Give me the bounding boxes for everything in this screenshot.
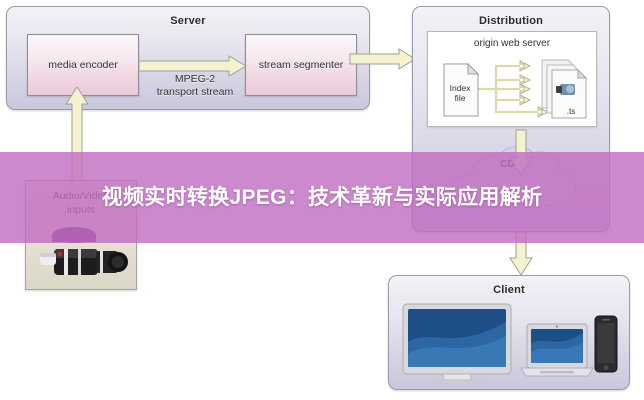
server-title: Server <box>7 15 369 27</box>
arrow-encoder-to-segmenter-icon <box>139 56 247 76</box>
arrow-segmenter-to-distribution-icon <box>350 49 416 69</box>
mpeg-transport-stream-label: MPEG-2 transport stream <box>145 73 245 99</box>
origin-web-server-art: .ts Index file <box>434 54 592 124</box>
origin-web-server-label: origin web server <box>428 38 596 49</box>
diagram-canvas: Server media encoder stream segmenter MP… <box>0 0 644 400</box>
distribution-title: Distribution <box>413 15 609 27</box>
index-file-label-line1: Index <box>450 83 472 93</box>
index-file-label-line2: file <box>455 93 466 103</box>
media-encoder-label: media encoder <box>28 59 138 71</box>
laptop-icon <box>521 324 593 376</box>
ts-segment-label: .ts <box>567 107 575 116</box>
client-group: Client <box>388 275 630 390</box>
client-devices-art <box>401 302 619 384</box>
client-title: Client <box>389 284 629 296</box>
title-banner-text: 视频实时转换JPEG：技术革新与实际应用解析 <box>0 152 644 243</box>
stream-segmenter-label: stream segmenter <box>246 59 356 71</box>
origin-web-server-box: origin web server <box>427 31 597 127</box>
stream-segmenter-block: stream segmenter <box>245 34 357 96</box>
smartphone-icon <box>595 316 617 372</box>
server-group: Server media encoder stream segmenter MP… <box>6 6 370 110</box>
desktop-monitor-icon <box>403 304 511 384</box>
mpeg-transport-stream-line2: transport stream <box>145 86 245 99</box>
